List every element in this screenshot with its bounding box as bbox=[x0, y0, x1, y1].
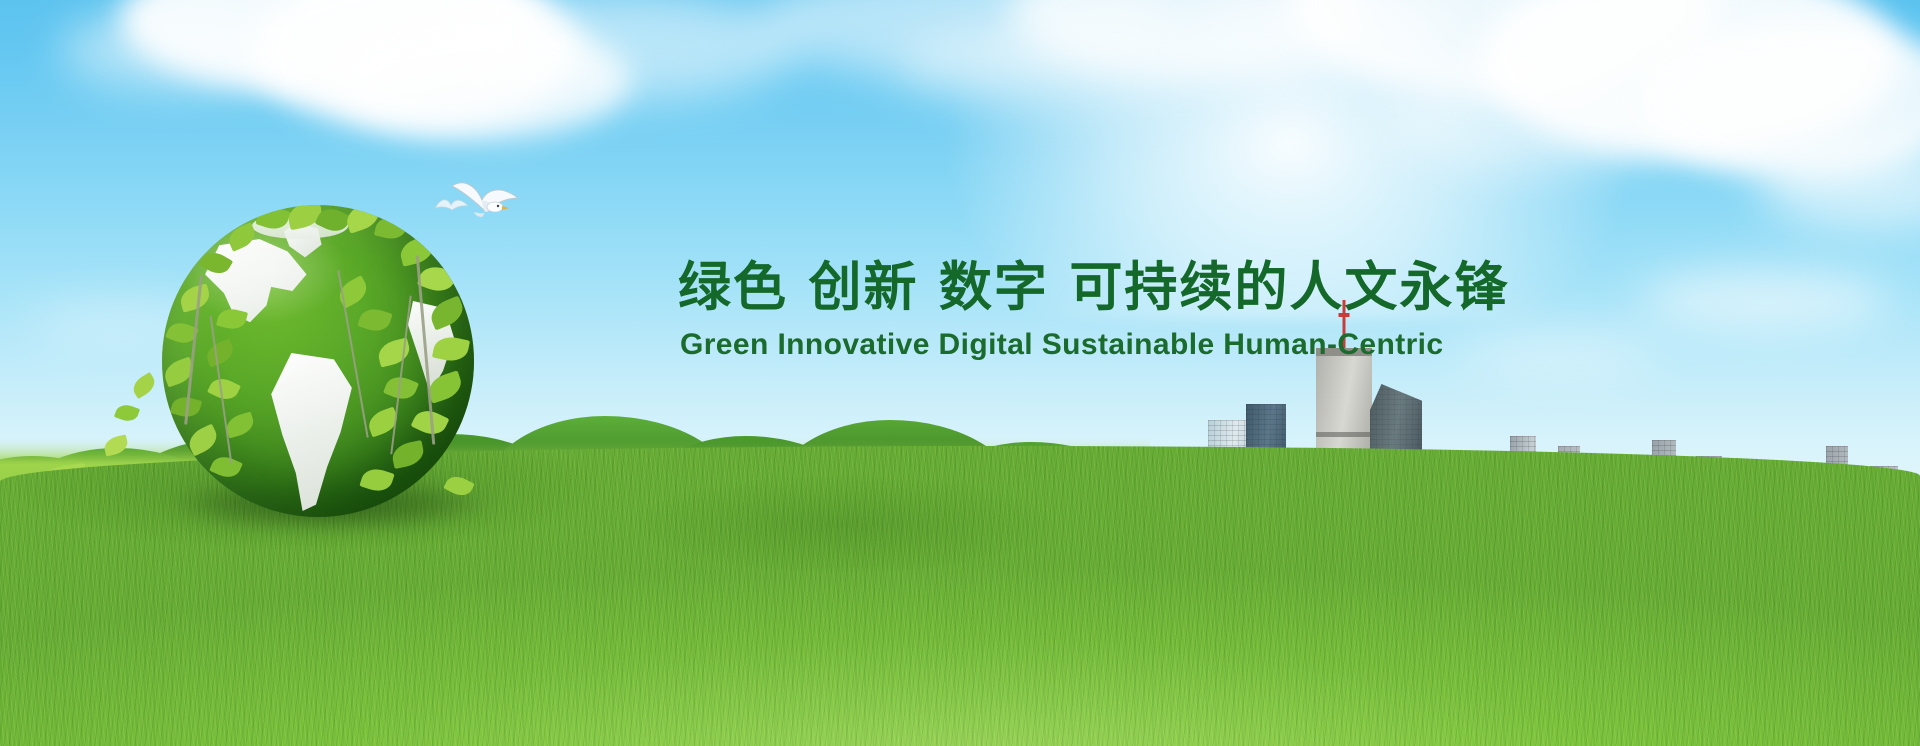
eco-banner: 绿色 创新 数字 可持续的人文永锋 Green Innovative Digit… bbox=[0, 0, 1920, 746]
headline-chinese: 绿色 创新 数字 可持续的人文永锋 bbox=[678, 258, 1578, 317]
globe-sphere bbox=[162, 205, 474, 517]
green-earth-globe bbox=[150, 205, 490, 545]
subheadline-english: Green Innovative Digital Sustainable Hum… bbox=[680, 328, 1580, 362]
